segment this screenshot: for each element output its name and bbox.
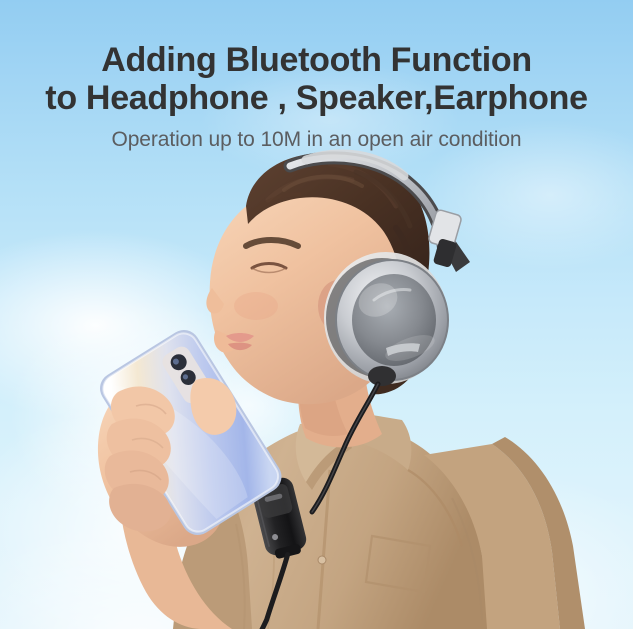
product-banner: Adding Bluetooth Function to Headphone ,… <box>0 0 633 629</box>
headline-line-2: to Headphone , Speaker,Earphone <box>0 79 633 117</box>
headline-line-1: Adding Bluetooth Function <box>0 41 633 79</box>
headline: Adding Bluetooth Function to Headphone ,… <box>0 41 633 117</box>
subtitle: Operation up to 10M in an open air condi… <box>0 126 633 153</box>
